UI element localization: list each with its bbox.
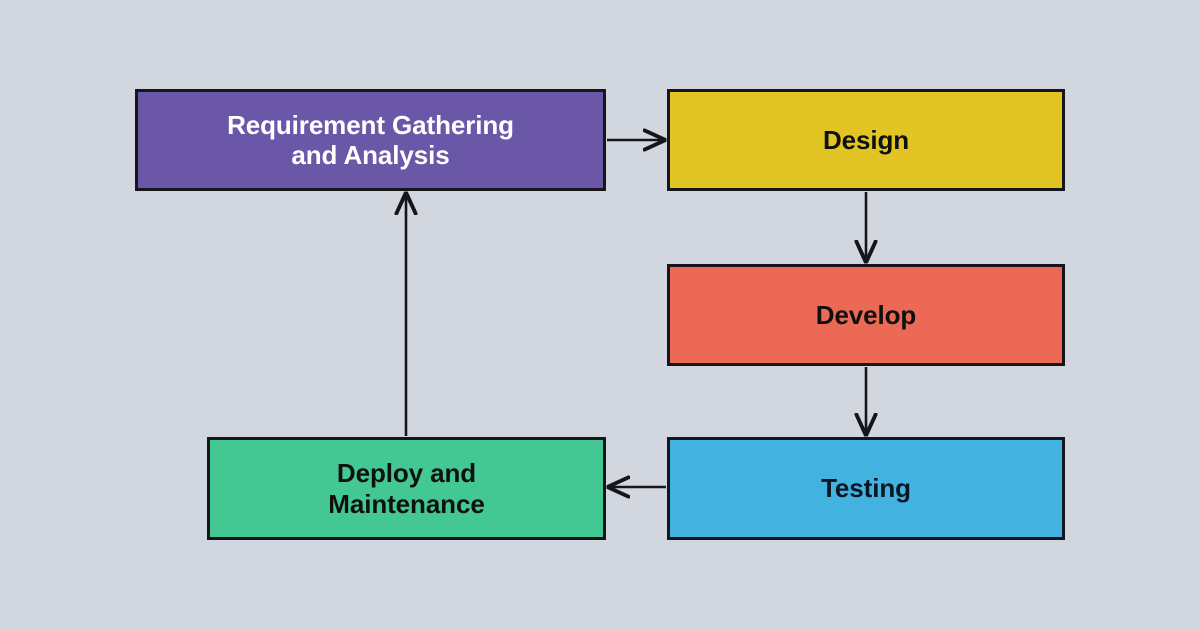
diagram-canvas: Requirement Gathering and Analysis Desig… <box>0 0 1200 630</box>
node-requirement-gathering-and-analysis[interactable]: Requirement Gathering and Analysis <box>135 89 606 191</box>
node-deploy-and-maintenance[interactable]: Deploy and Maintenance <box>207 437 606 540</box>
node-testing[interactable]: Testing <box>667 437 1065 540</box>
node-label: Deploy and Maintenance <box>318 458 494 518</box>
node-label: Design <box>813 125 919 155</box>
node-label: Testing <box>811 473 921 503</box>
node-label: Requirement Gathering and Analysis <box>217 110 524 170</box>
node-develop[interactable]: Develop <box>667 264 1065 366</box>
node-design[interactable]: Design <box>667 89 1065 191</box>
node-label: Develop <box>806 300 926 330</box>
